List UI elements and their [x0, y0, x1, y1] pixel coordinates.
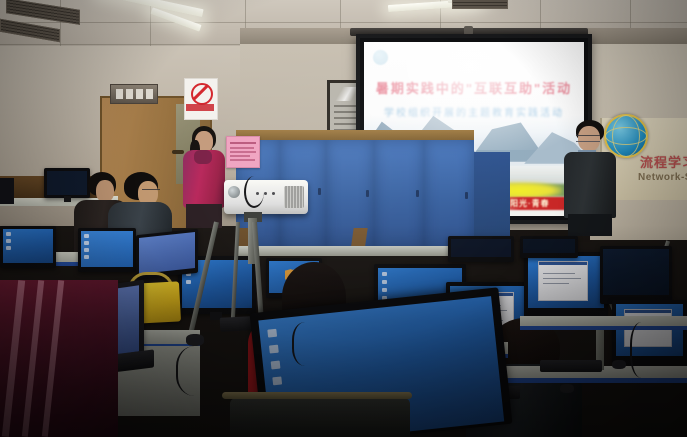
monitor: [448, 236, 514, 262]
keyboard[interactable]: [540, 360, 602, 372]
projector-vent: [284, 186, 304, 208]
lower-body: [568, 214, 612, 236]
pink-notice: [226, 136, 260, 168]
ceiling-vent: [452, 0, 508, 9]
cabinet-door[interactable]: [326, 140, 376, 252]
classroom-photo: 流程学习 Network-Sh 七彩阳光·青春 暑期实践中的"互联互助"活动 学…: [0, 0, 687, 437]
glasses-icon: [142, 189, 160, 195]
person-presenter-man: [562, 120, 620, 235]
document-window: [538, 261, 588, 301]
cabinet-door[interactable]: [374, 140, 426, 252]
projector-lens-icon: [228, 186, 240, 198]
chair-foreground[interactable]: [0, 280, 118, 437]
mouse[interactable]: [186, 334, 204, 346]
no-smoking-icon: [191, 83, 213, 105]
monitor: [0, 226, 56, 268]
chair-frame: [222, 392, 412, 399]
organization-name-chinese: 流程学习: [640, 152, 687, 171]
person-presenter-woman: [178, 126, 228, 226]
wall-plaque: [110, 84, 158, 104]
chair-back[interactable]: [230, 398, 410, 437]
monitor-side: [0, 178, 14, 204]
mouse[interactable]: [560, 384, 574, 393]
torso: [564, 152, 616, 218]
jacket-collar: [194, 150, 212, 164]
monitor: [600, 246, 672, 304]
organization-name-english: Network-Sh: [638, 172, 687, 183]
projector-cable: [244, 176, 264, 208]
monitor: [520, 236, 578, 258]
mouse[interactable]: [612, 360, 626, 369]
glasses-icon: [576, 135, 600, 142]
monitor: [78, 228, 136, 272]
monitor: [524, 252, 608, 318]
no-smoking-label: [186, 104, 214, 111]
